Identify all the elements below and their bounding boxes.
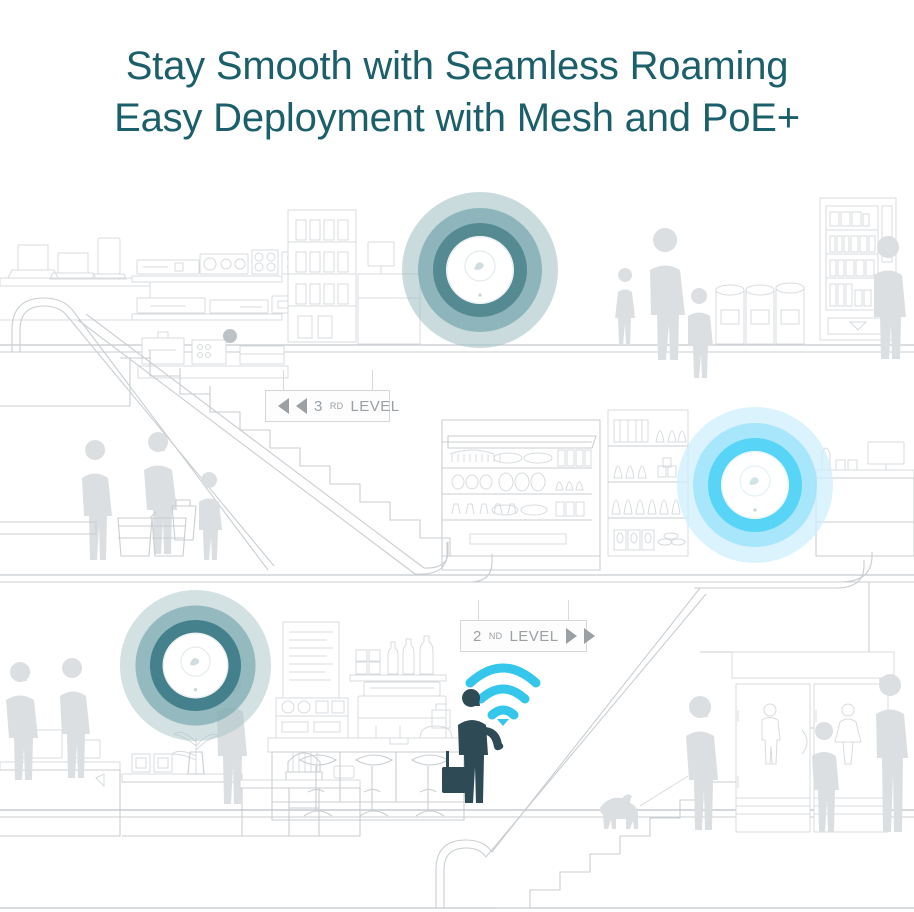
headline-line-2: Easy Deployment with Mesh and PoE+ — [0, 92, 914, 144]
sign-third-level-number: 3 — [314, 398, 323, 415]
access-point-first-level[interactable]: tp-link — [118, 588, 273, 743]
client-businessman — [440, 655, 570, 815]
sign-rod-third-left — [283, 370, 284, 392]
sign-second-level-word: LEVEL — [509, 628, 558, 645]
shoppers-third-level — [615, 228, 713, 378]
sign-rod-third-right — [372, 370, 373, 392]
sign-second-level-ordinal: ND — [489, 631, 503, 641]
sign-second-level[interactable]: 2ND LEVEL — [460, 620, 587, 652]
sign-rod-second-left — [478, 600, 479, 622]
restrooms — [732, 652, 908, 832]
access-point-second-level[interactable]: tp-link — [675, 405, 835, 565]
headline-line-1: Stay Smooth with Seamless Roaming — [126, 44, 789, 88]
sign-third-level-word: LEVEL — [350, 398, 399, 415]
arrow-right-icon-outer — [584, 628, 595, 644]
cafe — [268, 622, 468, 820]
grocery-display-case — [442, 420, 600, 570]
trash-cans — [716, 283, 804, 344]
arrow-right-icon-inner — [566, 628, 577, 644]
businessman-silhouette — [442, 689, 503, 803]
arrow-left-icon-outer — [278, 398, 289, 414]
shoppers-second-level — [82, 432, 222, 560]
arrow-left-icon-inner — [296, 398, 307, 414]
sign-third-level[interactable]: 3RD LEVEL — [265, 390, 390, 422]
promo-banner: Stay Smooth with Seamless Roaming Easy D… — [0, 0, 914, 912]
sign-third-level-ordinal: RD — [330, 401, 344, 411]
sign-second-level-number: 2 — [473, 628, 482, 645]
access-point-third-level[interactable]: tp-link — [400, 190, 560, 350]
vending-machine — [820, 198, 906, 359]
page-title: Stay Smooth with Seamless Roaming Easy D… — [0, 40, 914, 144]
sign-rod-second-right — [568, 600, 569, 622]
